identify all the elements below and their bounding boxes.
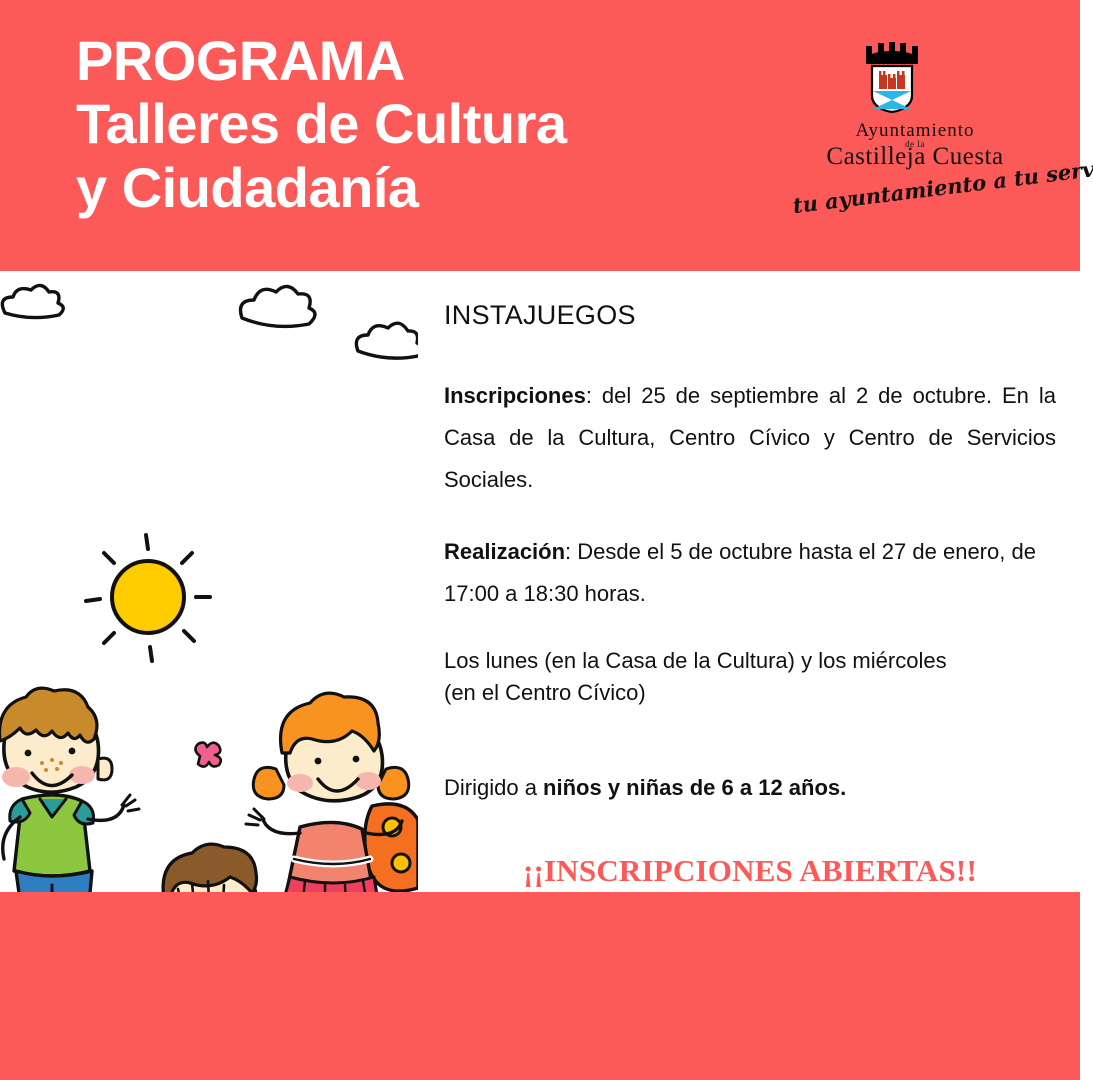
children-illustration-art [0,271,418,892]
muni-name-line2: de la Castilleja Cuesta [790,141,1040,170]
workshop-heading: INSTAJUEGOS [444,300,1056,331]
municipality-name: Ayuntamiento de la Castilleja Cuesta [790,120,1040,170]
title-line-3: y Ciudadanía [76,156,776,220]
poster: PROGRAMA Talleres de Cultura y Ciudadaní… [0,0,1093,1080]
coat-of-arms-icon [852,38,932,113]
realizacion-paragraph: Realización: Desde el 5 de octubre hasta… [444,531,1056,615]
cta-banner: ¡¡INSCRIPCIONES ABIERTAS!! [444,853,1056,889]
dias-line-2: (en el Centro Cívico) [444,677,1056,709]
realizacion-label: Realización [444,539,565,564]
muni-name-main: Castilleja Cuesta [826,143,1003,170]
dirigido-paragraph: Dirigido a niños y niñas de 6 a 12 años. [444,771,1056,805]
content-column: INSTAJUEGOS Inscripciones: del 25 de sep… [444,300,1056,889]
dirigido-label: Dirigido a [444,775,543,800]
dias-line-1: Los lunes (en la Casa de la Cultura) y l… [444,645,1056,677]
dirigido-target: niños y niñas de 6 a 12 años. [543,775,846,800]
municipality-logo: Ayuntamiento de la Castilleja Cuesta tu … [790,38,1040,238]
muni-name-line1: Ayuntamiento [790,120,1040,141]
header-band: PROGRAMA Talleres de Cultura y Ciudadaní… [0,0,1080,271]
page-title: PROGRAMA Talleres de Cultura y Ciudadaní… [76,30,776,220]
title-line-1: PROGRAMA [76,30,776,92]
footer-band: ayuntamientodecastillejadelacuesta @cast… [0,892,1080,1080]
inscripciones-label: Inscripciones [444,383,586,408]
children-illustration [0,271,418,892]
title-line-2: Talleres de Cultura [76,92,776,156]
inscripciones-paragraph: Inscripciones: del 25 de septiembre al 2… [444,375,1056,501]
municipality-slogan: tu ayuntamiento a tu servicio [791,163,1042,218]
